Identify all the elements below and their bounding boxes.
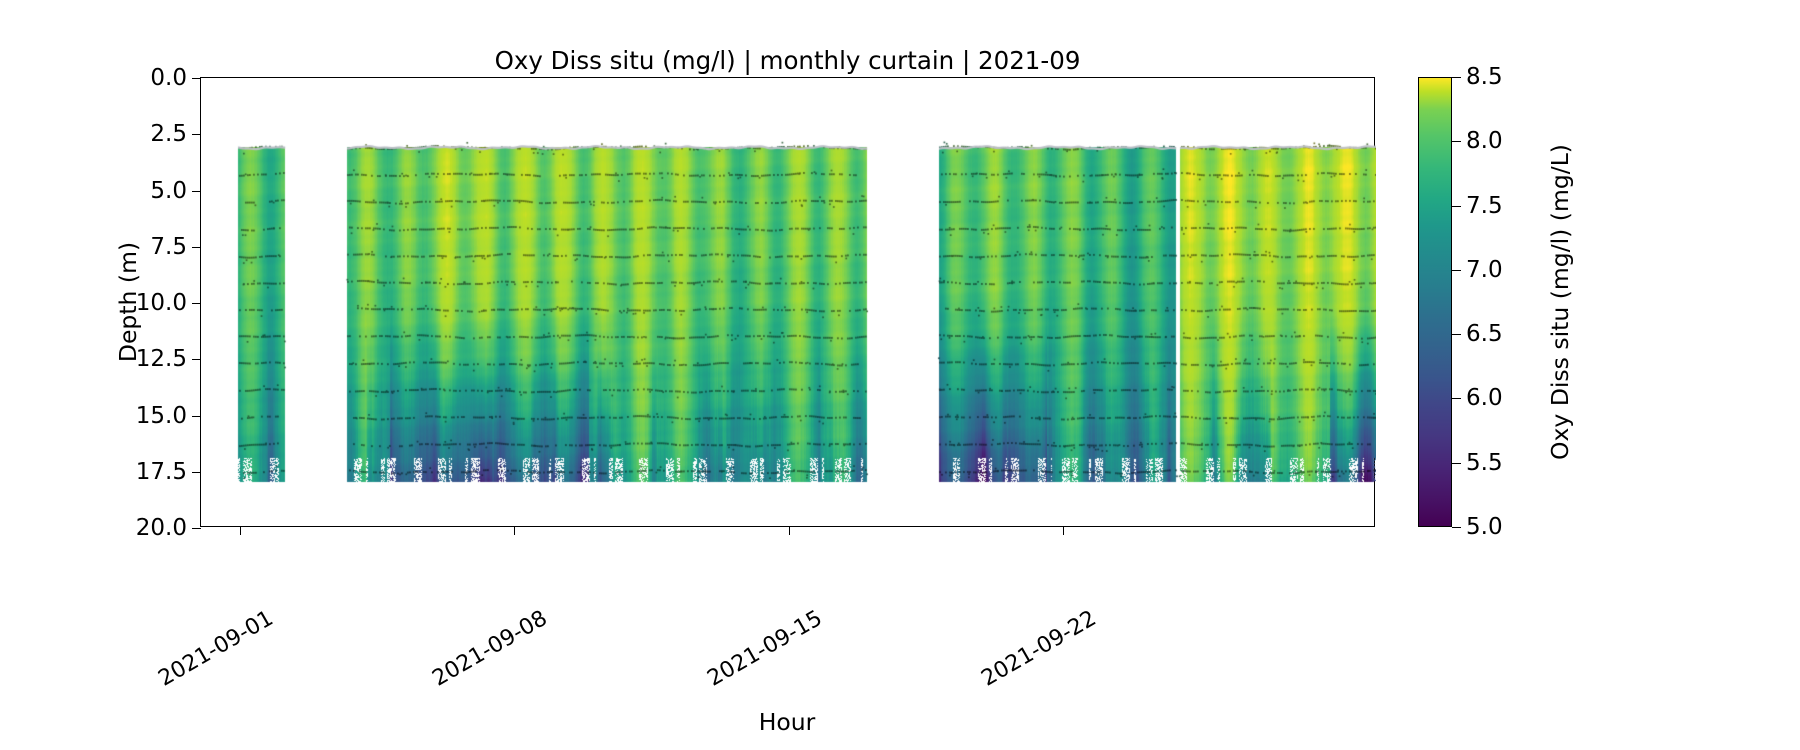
y-tick-label: 17.5 [136,459,187,485]
x-tick [1063,526,1064,535]
plot-axes: 0.02.55.07.510.012.515.017.520.0 2021-09… [200,77,1375,527]
y-tick-label: 15.0 [136,403,187,429]
y-tick-label: 20.0 [136,515,187,541]
colorbar-gradient [1418,77,1452,527]
colorbar: 8.58.07.57.06.56.05.55.0 [1418,77,1452,527]
x-tick-label: 2021-09-01 [155,606,278,692]
colorbar-tick-label: 6.0 [1466,385,1503,411]
colorbar-tick [1452,463,1461,464]
colorbar-tick [1452,141,1461,142]
y-tick [192,528,201,529]
y-tick-label: 0.0 [150,65,187,91]
y-tick [192,416,201,417]
x-tick-label: 2021-09-08 [429,606,552,692]
x-tick [240,526,241,535]
y-tick-label: 10.0 [136,290,187,316]
page-title: Oxy Diss situ (mg/l) | monthly curtain |… [200,46,1375,75]
colorbar-tick [1452,206,1461,207]
colorbar-tick [1452,77,1461,78]
y-tick-label: 2.5 [150,121,187,147]
y-tick [192,247,201,248]
colorbar-tick [1452,334,1461,335]
x-axis-label: Hour [759,708,816,736]
colorbar-tick [1452,270,1461,271]
y-tick-label: 7.5 [150,234,187,260]
heatmap-data-layer [201,78,1376,528]
y-tick [192,78,201,79]
y-tick [192,191,201,192]
colorbar-tick-label: 7.0 [1466,257,1503,283]
x-tick [514,526,515,535]
x-tick-label: 2021-09-15 [703,606,826,692]
colorbar-tick-label: 8.5 [1466,64,1503,90]
y-tick-label: 12.5 [136,346,187,372]
colorbar-tick-label: 5.0 [1466,514,1503,540]
colorbar-tick-label: 8.0 [1466,128,1503,154]
colorbar-tick [1452,398,1461,399]
colorbar-tick-label: 7.5 [1466,193,1503,219]
x-tick-label: 2021-09-22 [977,606,1100,692]
y-tick-label: 5.0 [150,178,187,204]
y-tick [192,134,201,135]
y-tick [192,472,201,473]
colorbar-tick [1452,527,1461,528]
x-tick [789,526,790,535]
colorbar-tick-label: 6.5 [1466,321,1503,347]
y-tick [192,359,201,360]
y-tick [192,303,201,304]
colorbar-tick-label: 5.5 [1466,450,1503,476]
colorbar-label: Oxy Diss situ (mg/l) (mg/L) [1546,144,1574,460]
figure-canvas: Oxy Diss situ (mg/l) | monthly curtain |… [0,0,1800,750]
